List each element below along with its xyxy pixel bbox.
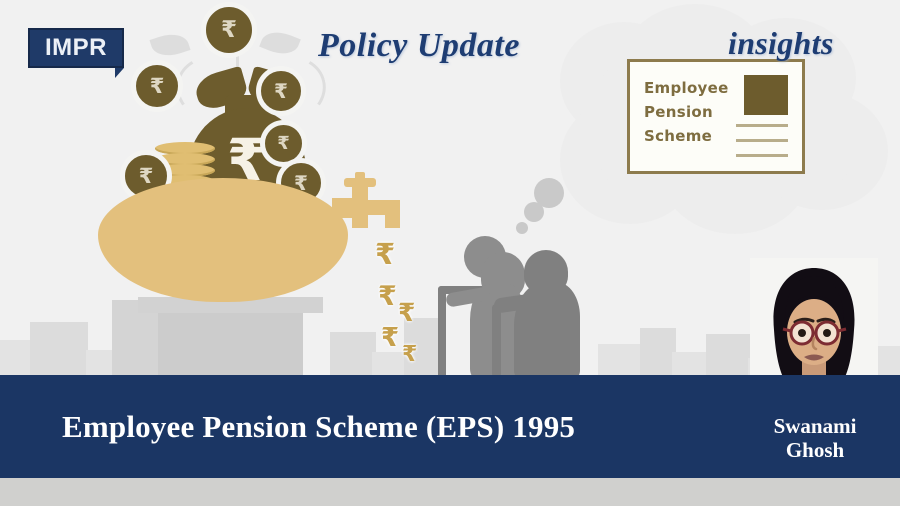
rupee-coin: ₹ <box>203 4 255 56</box>
bottom-strip <box>0 478 900 506</box>
author-name: Swanami Ghosh <box>740 414 890 462</box>
rupee-coin: ₹ <box>133 62 181 110</box>
eps-card-line <box>736 139 788 142</box>
insights-heading: insights <box>728 25 834 62</box>
eps-card-line <box>736 154 788 157</box>
logo-wordmark: IMPR <box>28 28 124 68</box>
falling-rupee: ₹ <box>402 344 417 366</box>
id-card-icon: Employee Pension Scheme <box>627 59 805 174</box>
policy-update-heading: Policy Update <box>318 27 520 65</box>
eps-card-photo-swatch <box>744 75 788 115</box>
falling-rupee: ₹ <box>375 240 395 269</box>
rupee-coin: ₹ <box>258 68 304 114</box>
eps-card-line <box>736 124 788 127</box>
falling-rupee: ₹ <box>381 325 399 351</box>
eps-card-label: Employee Pension Scheme <box>644 76 729 148</box>
poster-canvas: ₹ ₹ ₹ ₹ ₹ ₹ ₹ ₹ ₹ ₹ ₹ ₹ <box>0 0 900 506</box>
falling-rupee: ₹ <box>398 300 415 325</box>
falling-rupee: ₹ <box>378 283 397 310</box>
page-title: Employee Pension Scheme (EPS) 1995 <box>0 375 730 478</box>
rupee-coin: ₹ <box>262 122 305 165</box>
